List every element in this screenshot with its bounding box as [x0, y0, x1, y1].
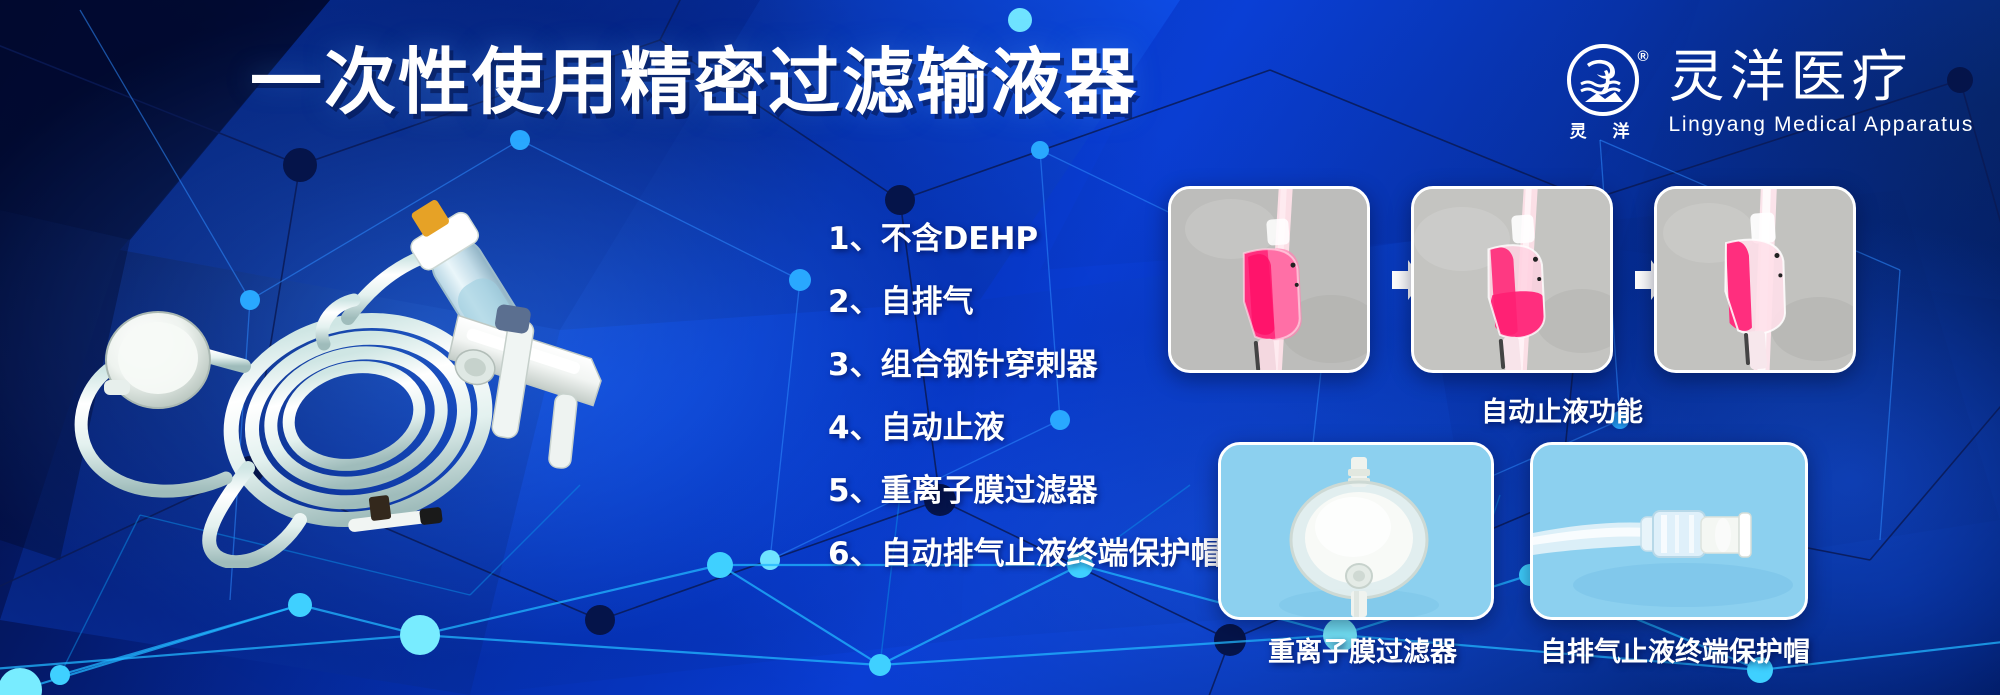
detail-card-filter: [1218, 442, 1494, 620]
brand-name-cn: 灵洋医疗: [1669, 50, 1974, 106]
logo-emblem: ® 灵 洋: [1559, 44, 1651, 142]
sequence-caption: 自动止液功能: [1481, 390, 1643, 429]
filter-photo: [1221, 445, 1494, 620]
sequence-card-3: [1654, 186, 1856, 373]
detail-caption-filter: 重离子膜过滤器: [1268, 630, 1457, 669]
product-photo: [48, 148, 728, 568]
brand-name-en: Lingyang Medical Apparatus: [1669, 113, 1974, 137]
sequence-card-2: [1411, 186, 1613, 373]
stopper-photo-empty: [1657, 189, 1856, 373]
detail-card-cap: [1530, 442, 1808, 620]
wave-mountain-icon: [1571, 48, 1635, 112]
company-logo: ® 灵 洋 灵洋医疗 Lingyang Medical Apparatus: [1559, 44, 1974, 142]
logo-emblem-subtext: 灵 洋: [1559, 117, 1651, 142]
registered-mark: ®: [1637, 48, 1648, 65]
brand-text-block: 灵洋医疗 Lingyang Medical Apparatus: [1669, 50, 1974, 137]
feature-item: 6、自动排气止液终端保护帽: [828, 539, 1222, 570]
feature-item: 2、自排气: [828, 287, 1222, 318]
product-banner: 一次性使用精密过滤输液器 ® 灵 洋 灵洋医疗 Lingyang Medical…: [0, 0, 2000, 695]
feature-item: 1、不含DEHP: [828, 224, 1222, 255]
protection-cap-photo: [1533, 445, 1808, 620]
feature-item: 4、自动止液: [828, 413, 1222, 444]
stopper-photo-half: [1414, 189, 1613, 373]
feature-item: 3、组合钢针穿刺器: [828, 350, 1222, 381]
logo-circle-icon: [1567, 44, 1639, 116]
banner-title: 一次性使用精密过滤输液器: [250, 46, 1138, 118]
detail-caption-cap: 自排气止液终端保护帽: [1540, 630, 1810, 669]
feature-item: 5、重离子膜过滤器: [828, 476, 1222, 507]
sequence-card-1: [1168, 186, 1370, 373]
inline-filter-part: [104, 312, 210, 408]
stopper-photo-full: [1171, 189, 1370, 373]
feature-list: 1、不含DEHP 2、自排气 3、组合钢针穿刺器 4、自动止液 5、重离子膜过滤…: [828, 224, 1222, 602]
